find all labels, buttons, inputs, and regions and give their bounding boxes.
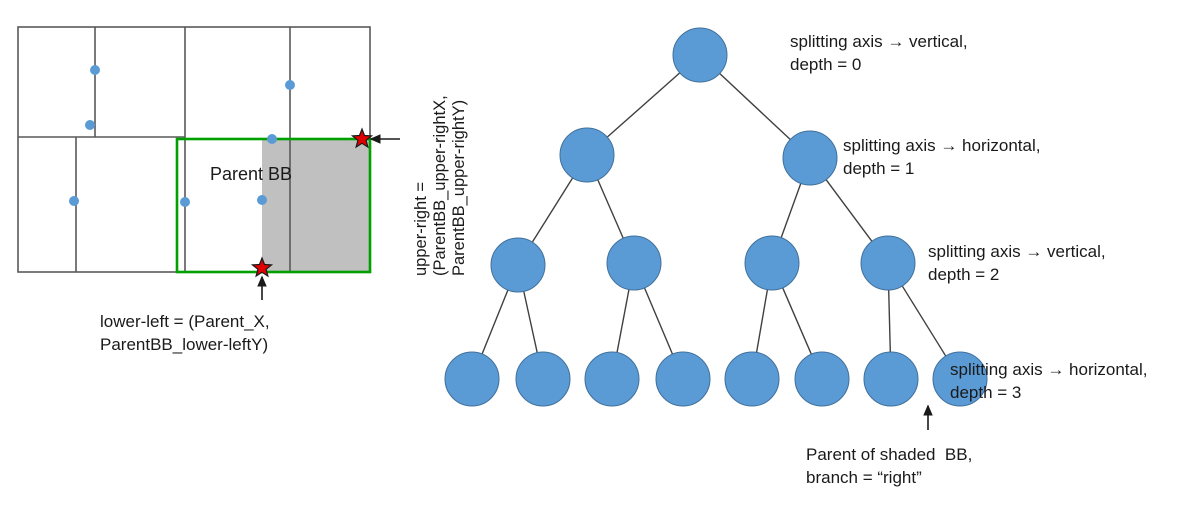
depth-label-0-line2: depth = 0 xyxy=(790,53,861,76)
tree-node-n12[interactable] xyxy=(795,352,849,406)
upper-right-annotation-line2: (ParentBB_upper-rightX, xyxy=(431,95,450,276)
data-point-2 xyxy=(69,196,79,206)
tree-edge-n0-n1 xyxy=(607,73,680,137)
leaf-annotation-line1: Parent of shaded BB, xyxy=(806,443,972,466)
tree-node-n7[interactable] xyxy=(445,352,499,406)
upper-right-annotation: upper-right = (ParentBB_upper-rightX, Pa… xyxy=(398,0,468,290)
tree-node-n3[interactable] xyxy=(491,238,545,292)
tree-node-n10[interactable] xyxy=(656,352,710,406)
data-point-5 xyxy=(267,134,277,144)
depth-label-0-line1: splitting axis → vertical, xyxy=(790,30,968,53)
tree-node-n4[interactable] xyxy=(607,236,661,290)
tree-node-n1[interactable] xyxy=(560,128,614,182)
upper-right-annotation-line3: ParentBB_upper-rightY) xyxy=(450,100,469,276)
lower-left-annotation-line2: ParentBB_lower-leftY) xyxy=(100,333,268,356)
tree-node-n0[interactable] xyxy=(673,28,727,82)
kd-tree-diagram xyxy=(445,28,987,406)
tree-edge-n0-n2 xyxy=(720,73,791,139)
tree-node-n5[interactable] xyxy=(745,236,799,290)
tree-edge-n2-n5 xyxy=(781,183,801,237)
tree-node-n11[interactable] xyxy=(725,352,779,406)
tree-node-n8[interactable] xyxy=(516,352,570,406)
parent-bb-label: Parent BB xyxy=(210,163,292,186)
tree-edge-n1-n4 xyxy=(598,180,623,238)
partition-diagram xyxy=(18,27,372,276)
tree-edge-n5-n12 xyxy=(783,288,812,354)
upper-right-annotation-line1: upper-right = xyxy=(412,182,431,276)
tree-edge-n3-n8 xyxy=(524,291,537,352)
tree-node-n6[interactable] xyxy=(861,236,915,290)
tree-edge-n5-n11 xyxy=(757,290,768,353)
tree-edge-n6-n14 xyxy=(902,286,946,356)
data-point-1 xyxy=(85,120,95,130)
tree-node-n13[interactable] xyxy=(864,352,918,406)
tree-node-n2[interactable] xyxy=(783,131,837,185)
depth-label-3-line2: depth = 3 xyxy=(950,381,1021,404)
tree-edge-n1-n3 xyxy=(532,178,572,242)
data-point-3 xyxy=(285,80,295,90)
leaf-annotation-line2: branch = “right” xyxy=(806,466,922,489)
data-point-6 xyxy=(257,195,267,205)
depth-label-2-line1: splitting axis → vertical, xyxy=(928,240,1106,263)
depth-label-3-line1: splitting axis → horizontal, xyxy=(950,358,1147,381)
tree-edge-n4-n10 xyxy=(645,288,673,354)
tree-edge-n4-n9 xyxy=(617,290,629,353)
depth-label-2-line2: depth = 2 xyxy=(928,263,999,286)
tree-edge-n3-n7 xyxy=(482,290,508,354)
shaded-bounding-box xyxy=(262,140,370,271)
depth-label-1-line2: depth = 1 xyxy=(843,157,914,180)
tree-edge-n6-n13 xyxy=(889,290,891,352)
tree-edge-n2-n6 xyxy=(826,180,872,242)
depth-label-1-line1: splitting axis → horizontal, xyxy=(843,134,1040,157)
tree-node-n9[interactable] xyxy=(585,352,639,406)
data-point-0 xyxy=(90,65,100,75)
lower-left-annotation-line1: lower-left = (Parent_X, xyxy=(100,310,270,333)
data-point-4 xyxy=(180,197,190,207)
